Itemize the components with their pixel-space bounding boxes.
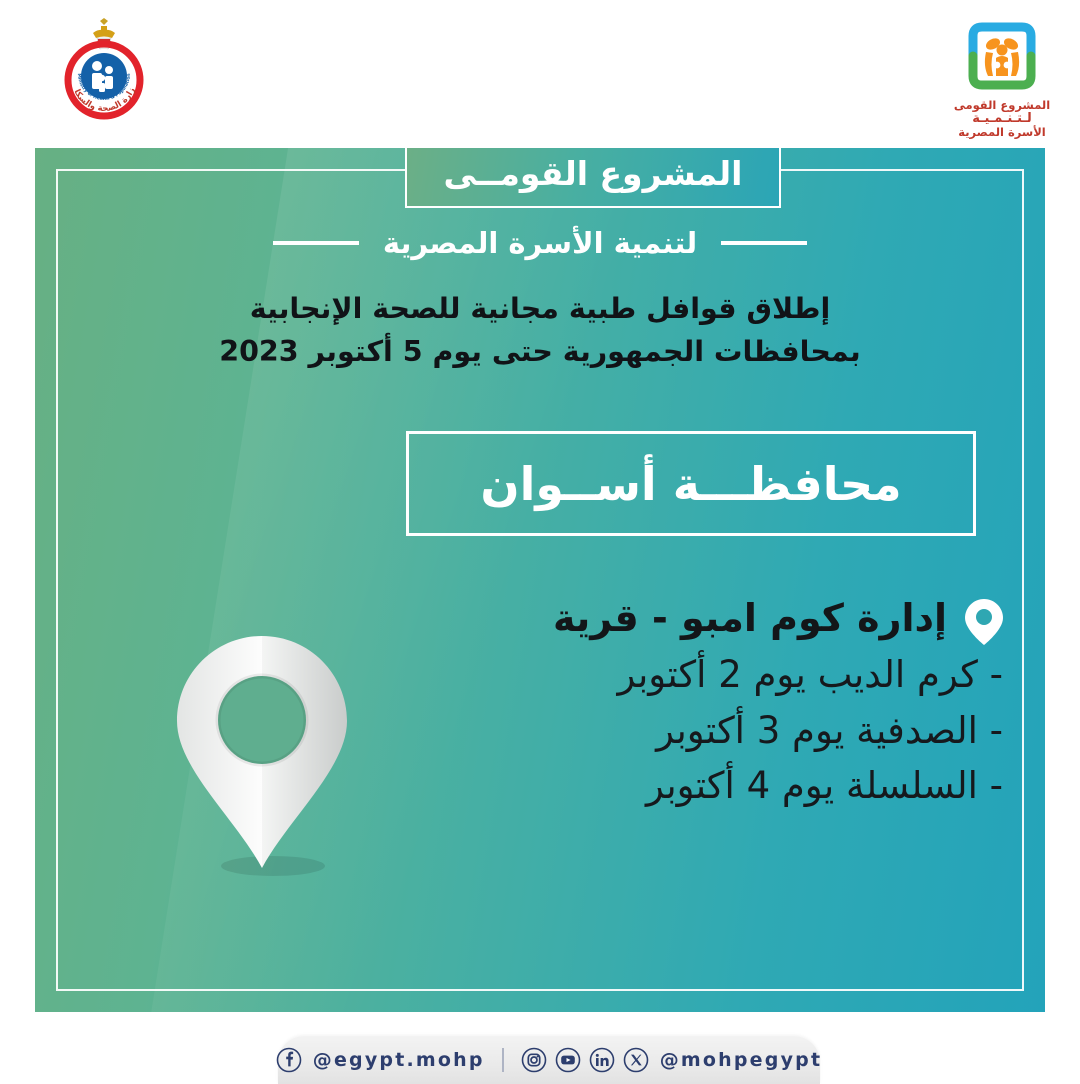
x-twitter-icon[interactable] — [623, 1047, 649, 1073]
national-project-logo: المشروع القومى لـتـنـمـيـة الأسرة المصري… — [946, 22, 1058, 156]
location-item: - الصدفية يوم 3 أكتوبر — [385, 703, 1005, 759]
linkedin-icon[interactable] — [589, 1047, 615, 1073]
national-family-development-project-emblem — [963, 22, 1041, 94]
project-title-banner: المشروع القومــى — [405, 148, 781, 208]
campaign-headline: إطلاق قوافل طبية مجانية للصحة الإنجابية … — [95, 288, 985, 374]
location-heading-text: إدارة كوم امبو - قرية — [553, 593, 947, 643]
youtube-icon[interactable] — [555, 1047, 581, 1073]
project-subtitle-text: لتنمية الأسرة المصرية — [383, 226, 697, 260]
headline-line-2: بمحافظات الجمهورية حتى يوم 5 أكتوبر 2023 — [95, 331, 985, 374]
main-poster-card: المشروع القومــى لتنمية الأسرة المصرية إ… — [35, 148, 1045, 1012]
shared-social-handle[interactable]: @mohpegypt — [660, 1049, 823, 1071]
card-sheen — [129, 148, 668, 1012]
governorate-box: محافظـــة أســوان — [406, 431, 976, 536]
project-subtitle-row: لتنمية الأسرة المصرية — [35, 226, 1045, 260]
ministry-of-health-logo: وزارة الصحة والسكان Ministry of Health &… — [52, 18, 156, 122]
subtitle-dash-left — [273, 241, 359, 245]
project-logo-line1: المشروع القومى — [954, 99, 1050, 112]
headline-line-1: إطلاق قوافل طبية مجانية للصحة الإنجابية — [95, 288, 985, 331]
location-list-block: إدارة كوم امبو - قرية - كرم الديب يوم 2 … — [385, 593, 1005, 814]
egypt-ministry-of-health-emblem: وزارة الصحة والسكان Ministry of Health &… — [52, 18, 156, 122]
facebook-handle[interactable]: @egypt.mohp — [313, 1049, 485, 1071]
social-icon-group — [521, 1047, 649, 1073]
instagram-icon[interactable] — [521, 1047, 547, 1073]
project-title-text: المشروع القومــى — [444, 154, 743, 193]
large-3d-map-pin-icon — [155, 628, 370, 878]
footer-divider — [502, 1048, 504, 1072]
location-heading-row: إدارة كوم امبو - قرية — [385, 593, 1005, 647]
location-item: - كرم الديب يوم 2 أكتوبر — [385, 647, 1005, 703]
location-item: - السلسلة يوم 4 أكتوبر — [385, 758, 1005, 814]
subtitle-dash-right — [721, 241, 807, 245]
project-logo-line2: لـتـنـمـيـة — [954, 112, 1050, 127]
project-logo-line3: الأسرة المصرية — [954, 126, 1050, 139]
social-footer-bar: @egypt.mohp — [278, 1036, 820, 1084]
facebook-icon[interactable] — [276, 1047, 302, 1073]
map-pin-icon — [963, 597, 1005, 647]
governorate-label: محافظـــة أســوان — [480, 457, 901, 511]
